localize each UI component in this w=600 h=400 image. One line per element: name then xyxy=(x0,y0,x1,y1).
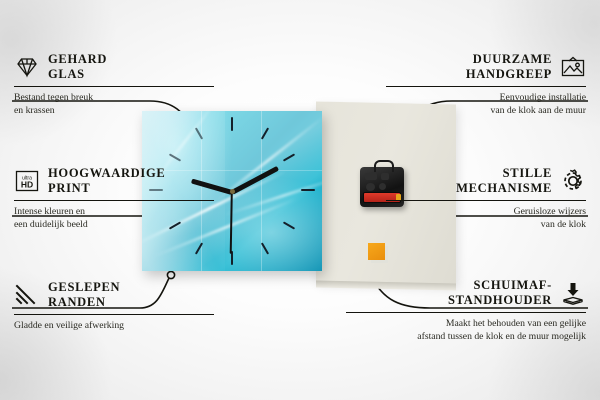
feature-title-line2: PRINT xyxy=(48,181,165,196)
feature-stille-mechanisme: STILLE MECHANISME Geruisloze wijzers van… xyxy=(386,166,586,231)
picture-frame-icon xyxy=(560,55,586,79)
infographic-canvas: GEHARD GLAS Bestand tegen breuk en krass… xyxy=(0,0,600,400)
feature-title-line2: STANDHOUDER xyxy=(448,293,552,308)
diamond-icon xyxy=(14,55,40,79)
gear-icon xyxy=(560,169,586,193)
clock-tick xyxy=(301,189,315,191)
clock-tick xyxy=(283,221,295,229)
clock-tick xyxy=(261,242,269,254)
feature-hoogwaardige-print: ultra HD HOOGWAARDIGE PRINT Intense kleu… xyxy=(14,166,214,231)
feature-rule xyxy=(386,200,586,201)
svg-text:HD: HD xyxy=(21,180,33,190)
feature-geslepen-randen: GESLEPEN RANDEN Gladde en veilige afwerk… xyxy=(14,280,214,332)
feature-title-line1: GESLEPEN xyxy=(48,280,120,295)
feature-duurzame-handgreep: DUURZAME HANDGREEP Eenvoudige installati… xyxy=(386,52,586,117)
feature-rule xyxy=(14,200,214,201)
feature-rule xyxy=(14,314,214,315)
movement-detail xyxy=(365,173,377,180)
feature-desc-line1: Eenvoudige installatie xyxy=(386,91,586,104)
feature-desc-line1: Maakt het behouden van een gelijke xyxy=(346,317,586,330)
clock-tick xyxy=(231,117,233,131)
feature-title-line1: SCHUIMAF- xyxy=(448,278,552,293)
clock-tick xyxy=(261,127,269,139)
movement-detail xyxy=(366,183,375,191)
diagonal-lines-icon xyxy=(14,283,40,307)
press-pad-icon xyxy=(560,281,586,305)
feature-title-line1: DUURZAME xyxy=(466,52,552,67)
feature-title-line2: HANDGREEP xyxy=(466,67,552,82)
feature-desc-line2: van de klok aan de muur xyxy=(386,104,586,117)
hand-center-cap xyxy=(230,189,235,194)
clock-tick xyxy=(283,153,295,161)
ultra-hd-icon: ultra HD xyxy=(14,169,40,193)
feature-title-line1: GEHARD xyxy=(48,52,107,67)
feature-desc-line1: Geruisloze wijzers xyxy=(386,205,586,218)
feature-title-line1: STILLE xyxy=(456,166,552,181)
feature-rule xyxy=(14,86,214,87)
feature-title-line1: HOOGWAARDIGE xyxy=(48,166,165,181)
feature-title-line2: MECHANISME xyxy=(456,181,552,196)
feature-schuimafstandhouder: SCHUIMAF- STANDHOUDER Maakt het behouden… xyxy=(346,278,586,343)
feature-desc-line1: Bestand tegen breuk xyxy=(14,91,214,104)
feature-title-line2: RANDEN xyxy=(48,295,120,310)
feature-desc-line2: van de klok xyxy=(386,218,586,231)
feature-gehard-glas: GEHARD GLAS Bestand tegen breuk en krass… xyxy=(14,52,214,117)
feature-rule xyxy=(346,312,586,313)
feature-desc-line1: Gladde en veilige afwerking xyxy=(14,319,214,332)
feature-desc-line2: en krassen xyxy=(14,104,214,117)
movement-detail xyxy=(379,183,386,190)
feature-title-line2: GLAS xyxy=(48,67,107,82)
feature-desc-line2: een duidelijk beeld xyxy=(14,218,214,231)
feature-rule xyxy=(386,86,586,87)
feature-desc-line2: afstand tussen de klok en de muur mogeli… xyxy=(346,330,586,343)
foam-spacer-pad xyxy=(368,243,385,260)
feature-desc-line1: Intense kleuren en xyxy=(14,205,214,218)
